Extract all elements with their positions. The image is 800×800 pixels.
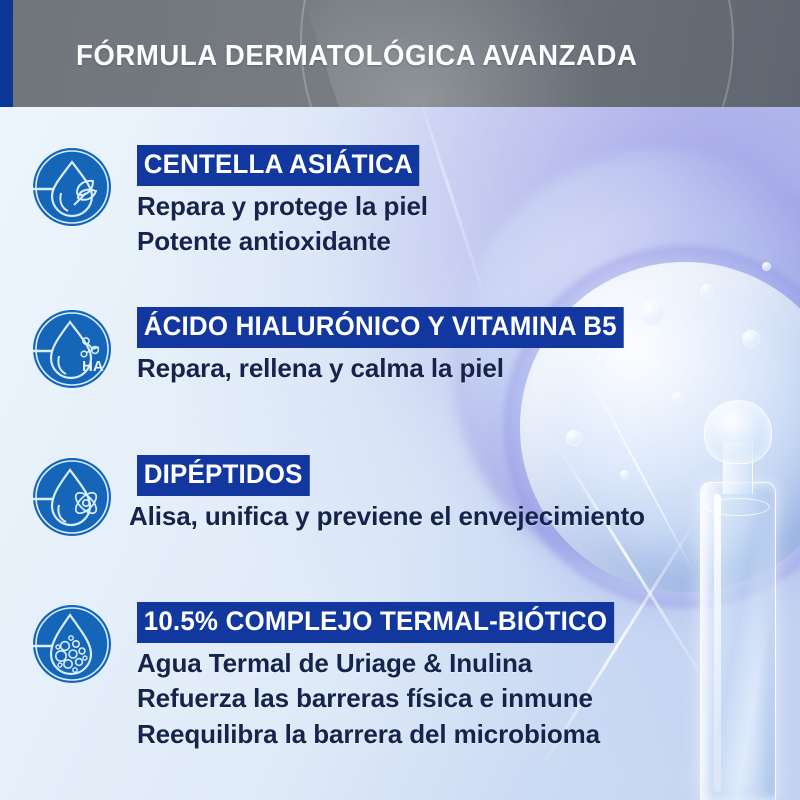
ingredient-texts: ÁCIDO HIALURÓNICO Y VITAMINA B5 Repara, … bbox=[137, 307, 644, 383]
ingredient-list: CENTELLA ASIÁTICA Repara y protege la pi… bbox=[0, 107, 800, 800]
ingredient-texts: DIPÉPTIDOS Alisa, unifica y previene el … bbox=[137, 455, 645, 531]
header-banner: FÓRMULA DERMATOLÓGICA AVANZADA bbox=[0, 0, 800, 107]
ingredient-heading: DIPÉPTIDOS bbox=[137, 455, 309, 496]
ha-label: HA bbox=[82, 358, 104, 375]
ingredient-benefit-line: Agua Termal de Uriage & Inulina bbox=[137, 648, 634, 678]
ingredient-benefit-line: Repara y protege la piel bbox=[137, 191, 431, 221]
droplet-microbiome-icon bbox=[30, 602, 114, 686]
ingredient-row-acido-hialuronico-vitamina-b5: HA ÁCIDO HIALURÓNICO Y VITAMINA B5 Repar… bbox=[30, 307, 644, 391]
product-ingredient-infographic: FÓRMULA DERMATOLÓGICA AVANZADA CENTELLA … bbox=[0, 0, 800, 800]
ingredient-texts: 10.5% COMPLEJO TERMAL-BIÓTICO Agua Terma… bbox=[137, 602, 634, 749]
ingredient-benefit-line: Alisa, unifica y previene el envejecimie… bbox=[129, 501, 645, 531]
ingredient-heading: CENTELLA ASIÁTICA bbox=[137, 145, 420, 186]
ingredient-benefit-line: Repara, rellena y calma la piel bbox=[137, 353, 644, 383]
droplet-leaf-icon bbox=[30, 145, 114, 229]
ingredient-row-dipeptidos: DIPÉPTIDOS Alisa, unifica y previene el … bbox=[30, 455, 645, 539]
ingredient-row-centella-asiatica: CENTELLA ASIÁTICA Repara y protege la pi… bbox=[30, 145, 431, 257]
ingredient-row-complejo-termal-biotico: 10.5% COMPLEJO TERMAL-BIÓTICO Agua Terma… bbox=[30, 602, 634, 749]
ingredient-benefit-line: Reequilibra la barrera del microbioma bbox=[137, 719, 634, 749]
droplet-ha-molecule-icon: HA bbox=[30, 307, 114, 391]
ingredient-texts: CENTELLA ASIÁTICA Repara y protege la pi… bbox=[137, 145, 431, 257]
ingredient-heading: 10.5% COMPLEJO TERMAL-BIÓTICO bbox=[137, 602, 614, 643]
header-accent-bar bbox=[0, 0, 13, 107]
droplet-atom-icon bbox=[30, 455, 114, 539]
ingredient-benefit-line: Potente antioxidante bbox=[137, 226, 431, 256]
ingredient-heading: ÁCIDO HIALURÓNICO Y VITAMINA B5 bbox=[137, 307, 623, 348]
page-title: FÓRMULA DERMATOLÓGICA AVANZADA bbox=[76, 40, 637, 73]
ingredient-benefit-line: Refuerza las barreras física e inmune bbox=[137, 683, 634, 713]
